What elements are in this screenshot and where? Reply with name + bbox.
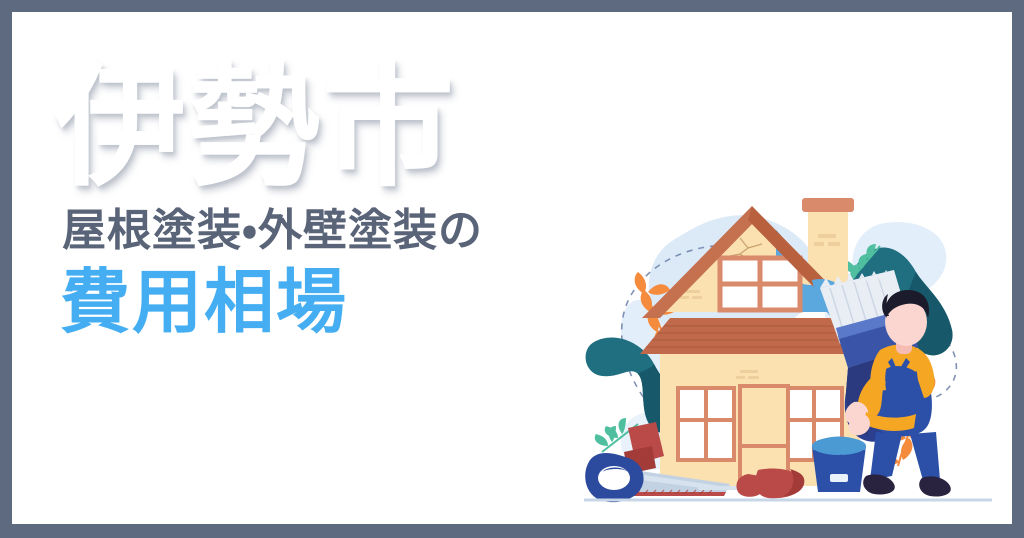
banner-inner-canvas: 伊勢市 屋根塗装・外壁塗装の 費用相場 [12, 12, 1012, 524]
paint-bucket [812, 437, 866, 492]
headline-text-block: 伊勢市 屋根塗装・外壁塗装の 費用相場 [54, 62, 614, 340]
house-painting-illustration [580, 184, 1000, 514]
headline-highlight: 費用相場 [60, 266, 614, 340]
banner-root: 伊勢市 屋根塗装・外壁塗装の 費用相場 [0, 0, 1024, 538]
headline-subtitle: 屋根塗装・外壁塗装の [62, 208, 614, 254]
page-title-city: 伊勢市 [54, 62, 614, 194]
